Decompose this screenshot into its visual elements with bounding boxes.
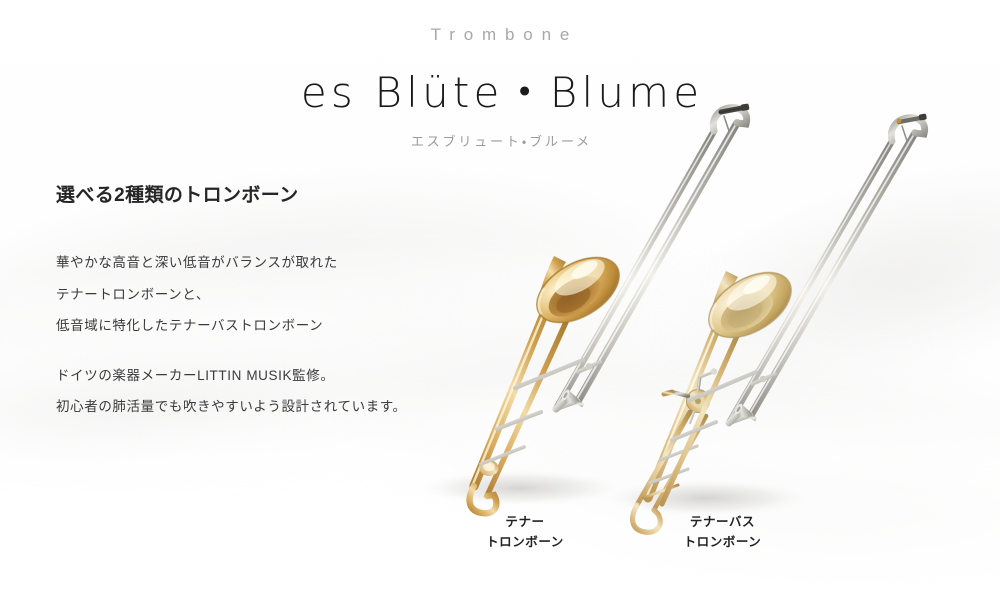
bass-stay-ferrule xyxy=(760,376,767,383)
tenor-bass-trombone xyxy=(633,113,927,532)
paragraph-one-line-1: 華やかな高音と深い低音がバランスが取れた xyxy=(56,253,407,273)
paragraph-one-line-3: 低音域に特化したテナーバストロンボーン xyxy=(56,316,407,336)
lead-heading: 選べる2種類のトロンボーン xyxy=(56,180,407,207)
caption-bass-line-2: トロンボーン xyxy=(635,533,810,553)
caption-tenor-line-1: テナー xyxy=(445,513,605,533)
caption-tenor-line-2: トロンボーン xyxy=(445,533,605,553)
paragraph-one: 華やかな高音と深い低音がバランスが取れた テナートロンボーンと、 低音域に特化し… xyxy=(56,207,407,336)
promo-banner: Trombone es Blüte・Blume エスブリュート・ブルーメ 選べる… xyxy=(0,0,1000,600)
tenor-trombone xyxy=(470,103,750,513)
header: Trombone es Blüte・Blume エスブリュート・ブルーメ xyxy=(0,0,1000,150)
tenor-stay-ferrule xyxy=(586,363,593,370)
paragraph-two: ドイツの楽器メーカーLITTIN MUSIK監修。 初心者の肺活量でも吹きやすい… xyxy=(56,336,407,417)
caption-bass-line-1: テナーバス xyxy=(635,513,810,533)
paragraph-two-line-1: ドイツの楽器メーカーLITTIN MUSIK監修。 xyxy=(56,366,407,386)
caption-tenor-bass-trombone: テナーバス トロンボーン xyxy=(635,513,810,553)
bass-drop-shadow xyxy=(598,479,814,517)
paragraph-one-line-2: テナートロンボーンと、 xyxy=(56,285,407,305)
page-subtitle: エスブリュート・ブルーメ xyxy=(0,120,1000,150)
tenor-drop-shadow xyxy=(412,469,628,507)
copy-block: 選べる2種類のトロンボーン 華やかな高音と深い低音がバランスが取れた テナートロ… xyxy=(56,180,407,417)
page-title: es Blüte・Blume xyxy=(0,45,1000,120)
paragraph-two-line-2: 初心者の肺活量でも吹きやすいよう設計されています。 xyxy=(56,397,407,417)
eyebrow-label: Trombone xyxy=(0,0,1000,45)
caption-tenor-trombone: テナー トロンボーン xyxy=(445,513,605,553)
